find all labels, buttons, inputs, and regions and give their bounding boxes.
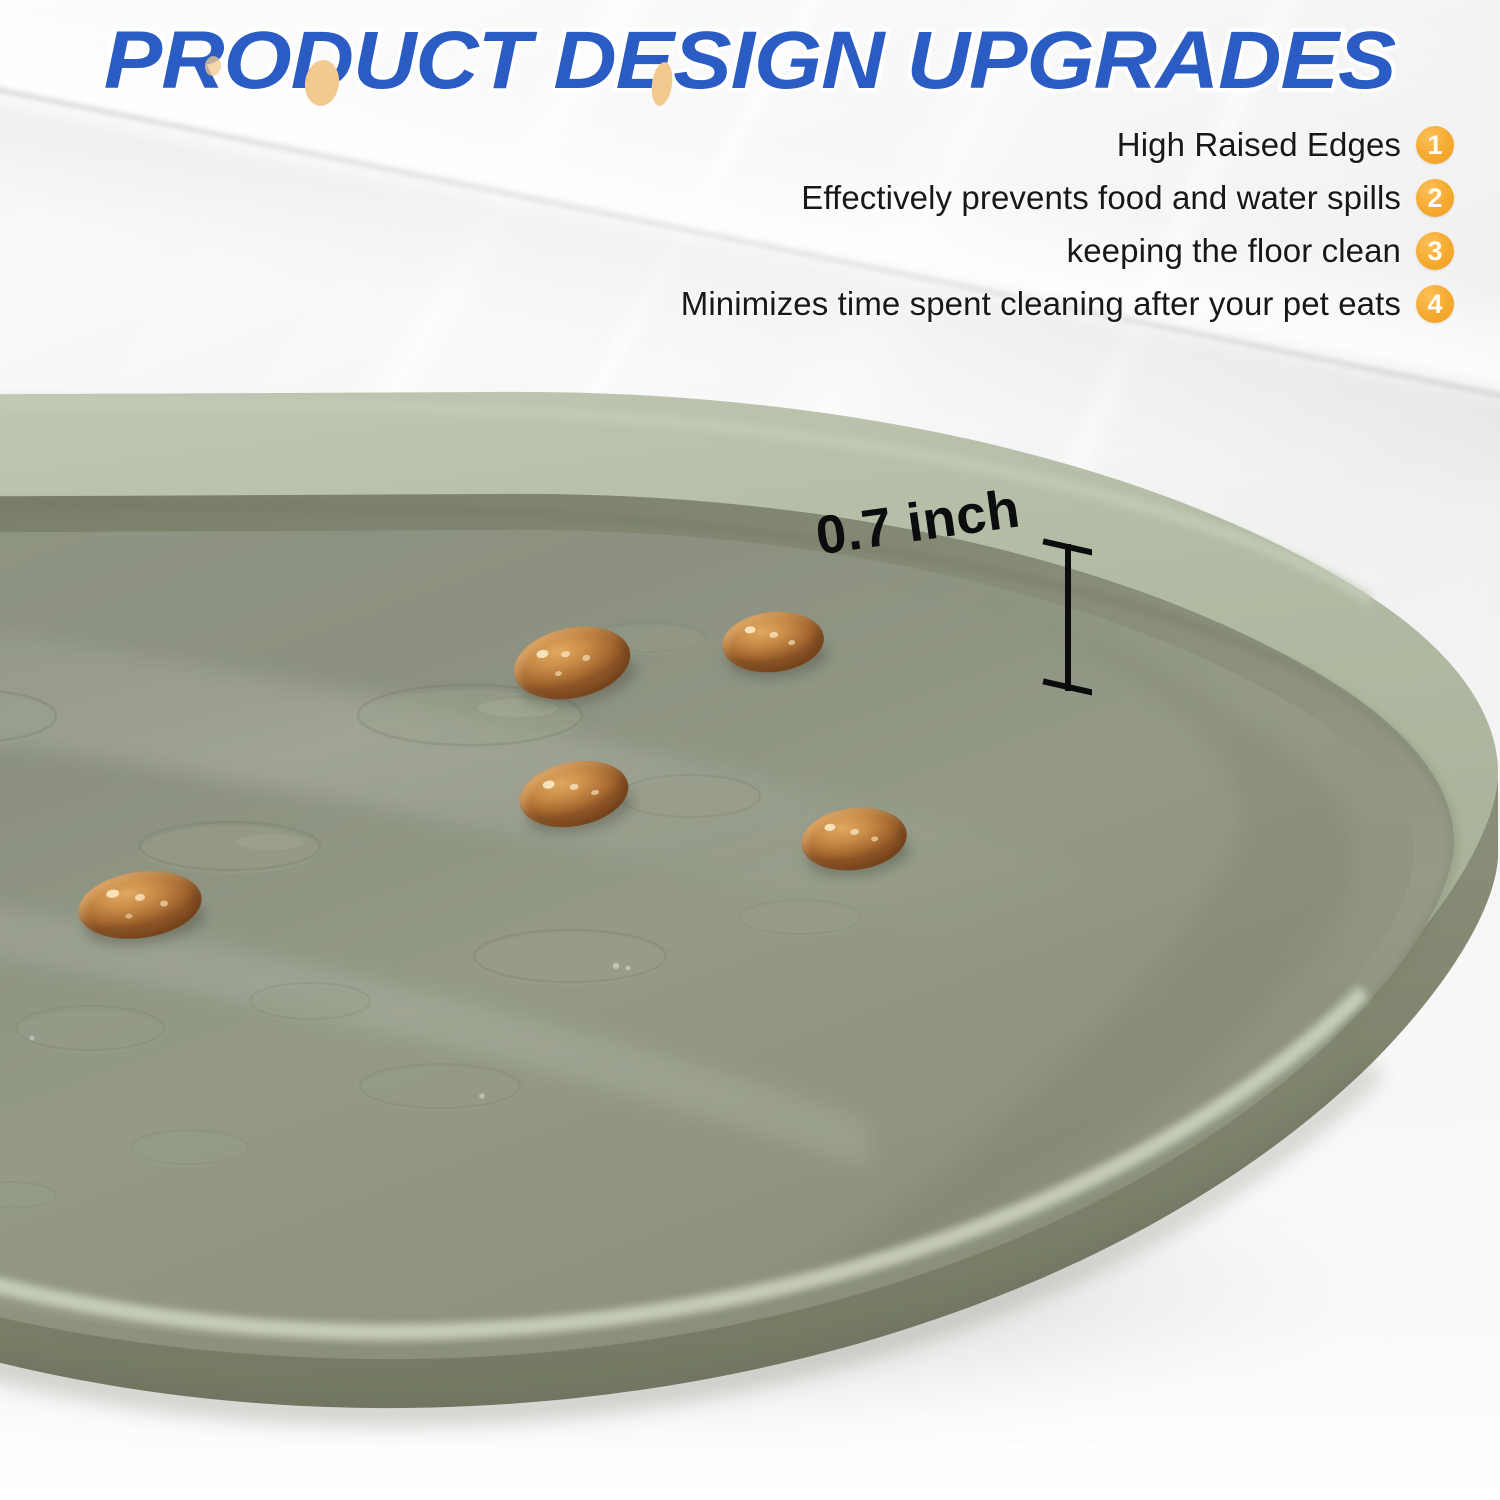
tray-illustration: [0, 160, 1500, 1480]
feature-item: Minimizes time spent cleaning after your…: [681, 279, 1454, 328]
pet-feeding-tray: [0, 160, 1500, 1480]
page-title: PRODUCT DESIGN UPGRADES: [104, 14, 1396, 108]
feature-label: keeping the floor clean: [1067, 232, 1401, 270]
feature-number-badge: 1: [1416, 126, 1454, 164]
kibble-piece: [798, 802, 911, 876]
headline-container: PRODUCT DESIGN UPGRADES: [0, 14, 1500, 108]
feature-label: Effectively prevents food and water spil…: [801, 179, 1401, 217]
feature-label: High Raised Edges: [1117, 126, 1401, 164]
feature-list: High Raised Edges 1 Effectively prevents…: [681, 120, 1454, 332]
feature-number-badge: 3: [1416, 232, 1454, 270]
feature-label: Minimizes time spent cleaning after your…: [681, 285, 1401, 323]
feature-number-badge: 2: [1416, 179, 1454, 217]
product-marketing-image: 0.7 inch PRODUCT DESIGN UPGRADES High Ra…: [0, 0, 1500, 1500]
kibble-piece: [719, 607, 827, 677]
feature-item: Effectively prevents food and water spil…: [681, 173, 1454, 222]
feature-item: High Raised Edges 1: [681, 120, 1454, 169]
dimension-line-icon: [1012, 530, 1092, 700]
feature-item: keeping the floor clean 3: [681, 226, 1454, 275]
feature-number-badge: 4: [1416, 285, 1454, 323]
